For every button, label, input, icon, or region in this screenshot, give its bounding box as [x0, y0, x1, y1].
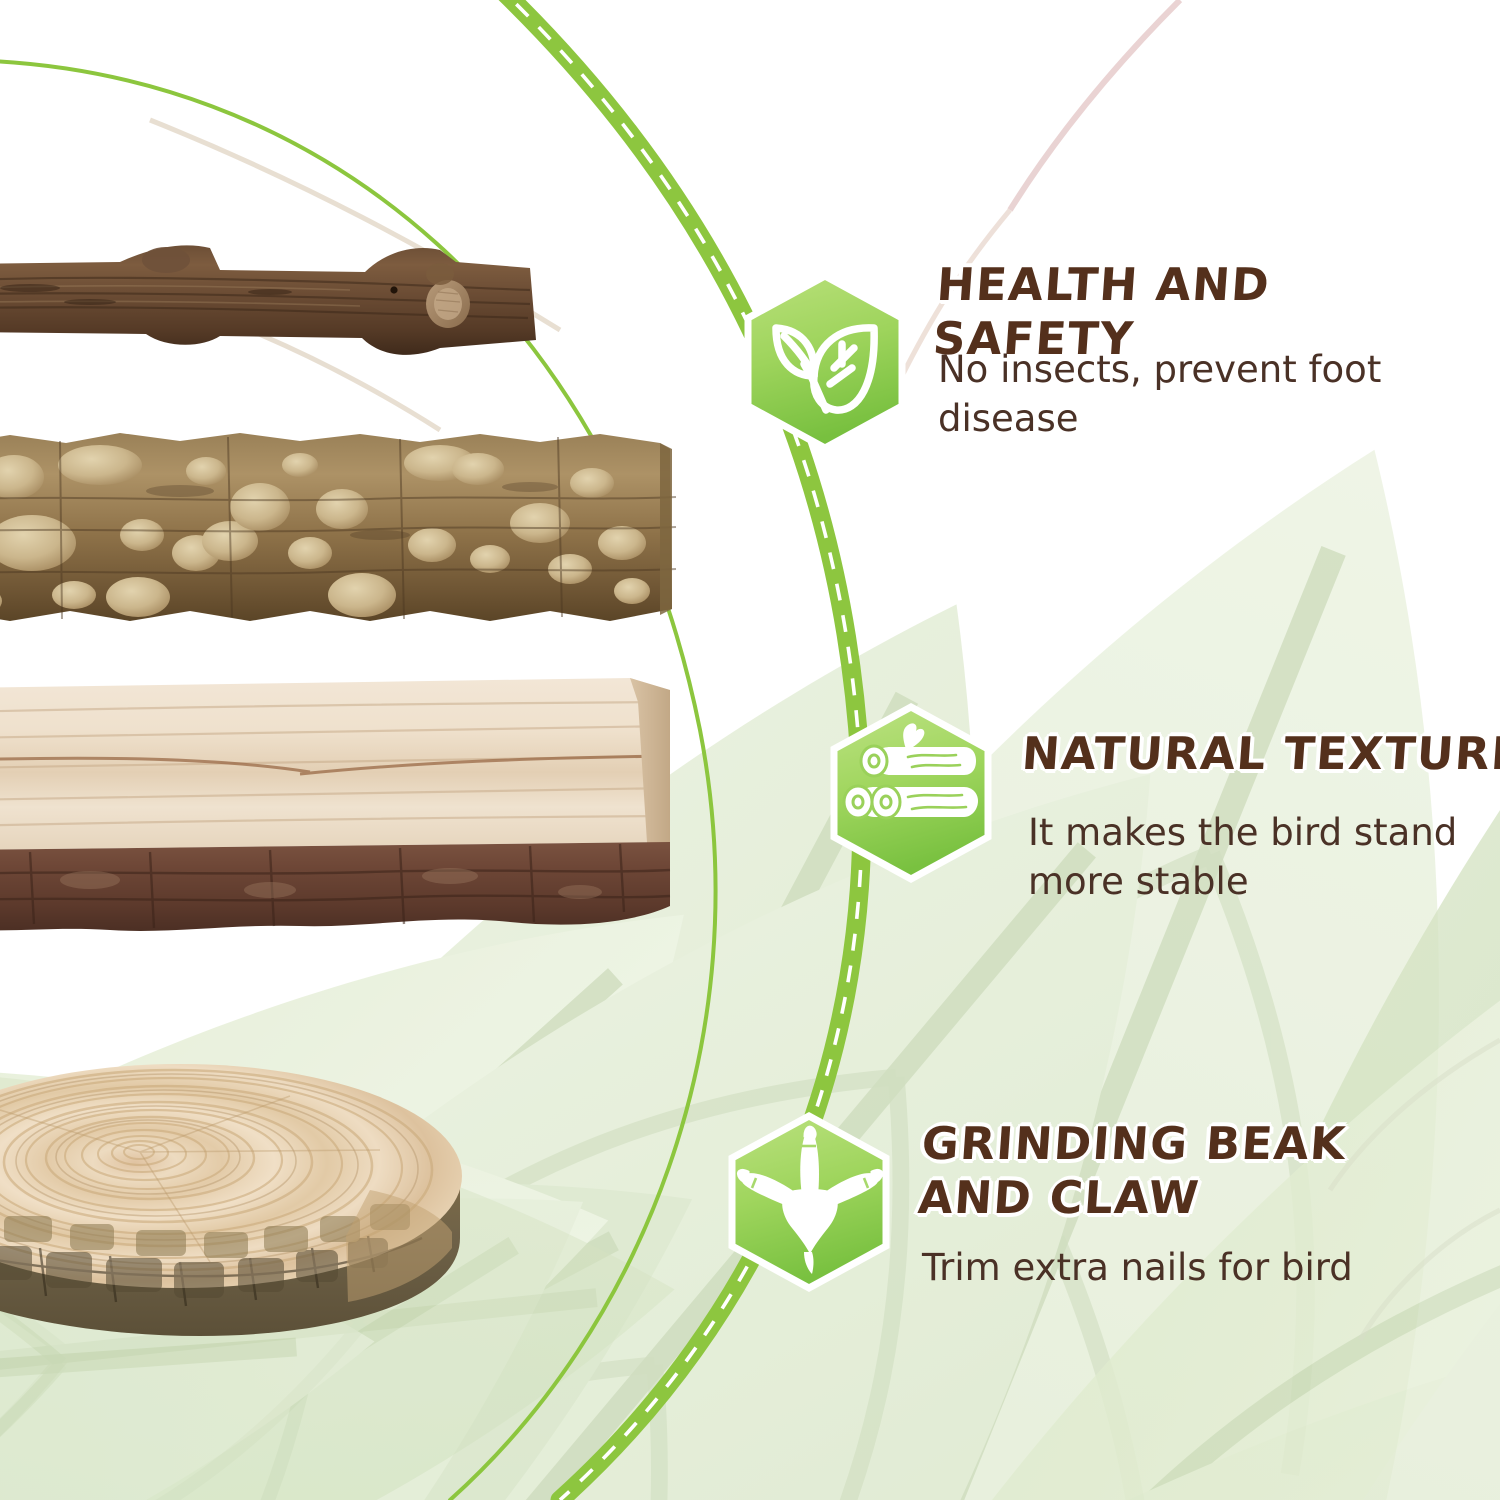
feature-description: It makes the bird stand more stable — [1028, 808, 1488, 906]
product-wood-slice — [0, 1000, 500, 1340]
product-branch-perch — [0, 236, 590, 376]
feature-icon-badge-2 — [828, 703, 994, 883]
product-bark-log-perch — [0, 425, 680, 640]
product-wood-plank — [0, 676, 700, 981]
infographic-canvas: HEALTH AND SAFETY No insects, prevent fo… — [0, 0, 1500, 1500]
feature-icon-badge-3 — [726, 1112, 892, 1292]
feature-title: NATURAL TEXTURE — [1020, 727, 1500, 781]
feature-description: No insects, prevent foot disease — [938, 345, 1408, 443]
feature-title: GRINDING BEAK AND CLAW — [916, 1117, 1444, 1225]
product-photo-group — [0, 0, 780, 1500]
feature-icon-badge-1 — [742, 272, 908, 452]
feature-description: Trim extra nails for bird — [922, 1243, 1392, 1292]
